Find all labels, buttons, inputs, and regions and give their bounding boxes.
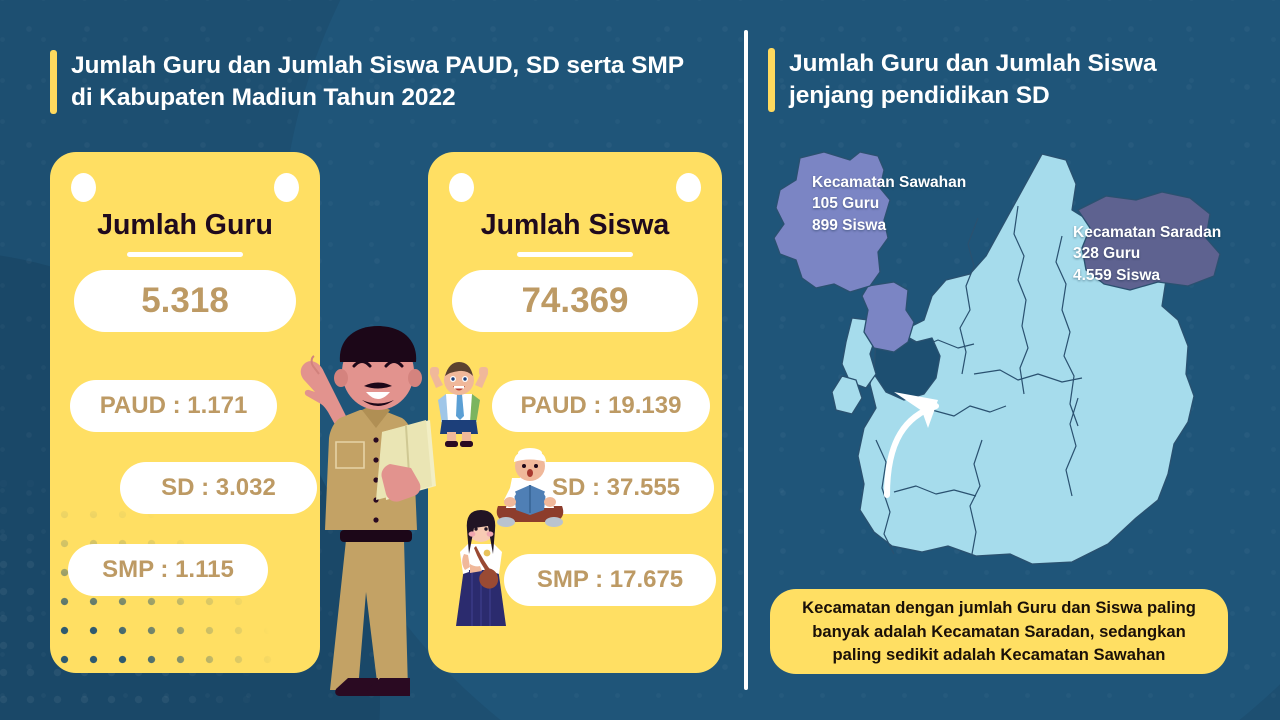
punch-hole-right-icon (676, 173, 701, 202)
card-total-value: 5.318 (74, 270, 296, 332)
map-label-teachers: 105 Guru (812, 193, 966, 214)
card-item-paud: PAUD : 19.139 (492, 380, 710, 432)
map-caption-box: Kecamatan dengan jumlah Guru dan Siswa p… (770, 589, 1228, 674)
map-label-district: Kecamatan Sawahan (812, 172, 966, 193)
map-label-students: 899 Siswa (812, 215, 966, 236)
punch-hole-right-icon (274, 173, 299, 202)
right-panel-title: Jumlah Guru dan Jumlah Siswa jenjang pen… (768, 48, 1218, 112)
card-item-smp: SMP : 1.115 (68, 544, 268, 596)
card-heading: Jumlah Guru (50, 209, 320, 242)
map-label-sawahan: Kecamatan Sawahan 105 Guru 899 Siswa (812, 172, 966, 236)
map-district-sawahan-inset (862, 282, 914, 352)
student-smp-illustration (452, 508, 510, 628)
panel-divider (744, 30, 748, 690)
card-item-smp: SMP : 17.675 (504, 554, 716, 606)
title-accent-bar (768, 48, 775, 112)
card-item-paud: PAUD : 1.171 (70, 380, 277, 432)
punch-hole-left-icon (71, 173, 96, 202)
title-accent-bar (50, 50, 57, 114)
left-panel-title: Jumlah Guru dan Jumlah Siswa PAUD, SD se… (50, 50, 710, 114)
right-panel-title-text: Jumlah Guru dan Jumlah Siswa jenjang pen… (789, 48, 1218, 112)
map-label-teachers: 328 Guru (1073, 243, 1221, 264)
card-underline (517, 252, 633, 257)
student-paud-illustration (428, 358, 490, 448)
punch-hole-left-icon (449, 173, 474, 202)
card-heading: Jumlah Siswa (428, 209, 722, 242)
left-panel-title-text: Jumlah Guru dan Jumlah Siswa PAUD, SD se… (71, 50, 710, 114)
map-label-saradan: Kecamatan Saradan 328 Guru 4.559 Siswa (1073, 222, 1221, 286)
card-total-value: 74.369 (452, 270, 698, 332)
map-label-district: Kecamatan Saradan (1073, 222, 1221, 243)
map-label-students: 4.559 Siswa (1073, 265, 1221, 286)
card-underline (127, 252, 243, 257)
